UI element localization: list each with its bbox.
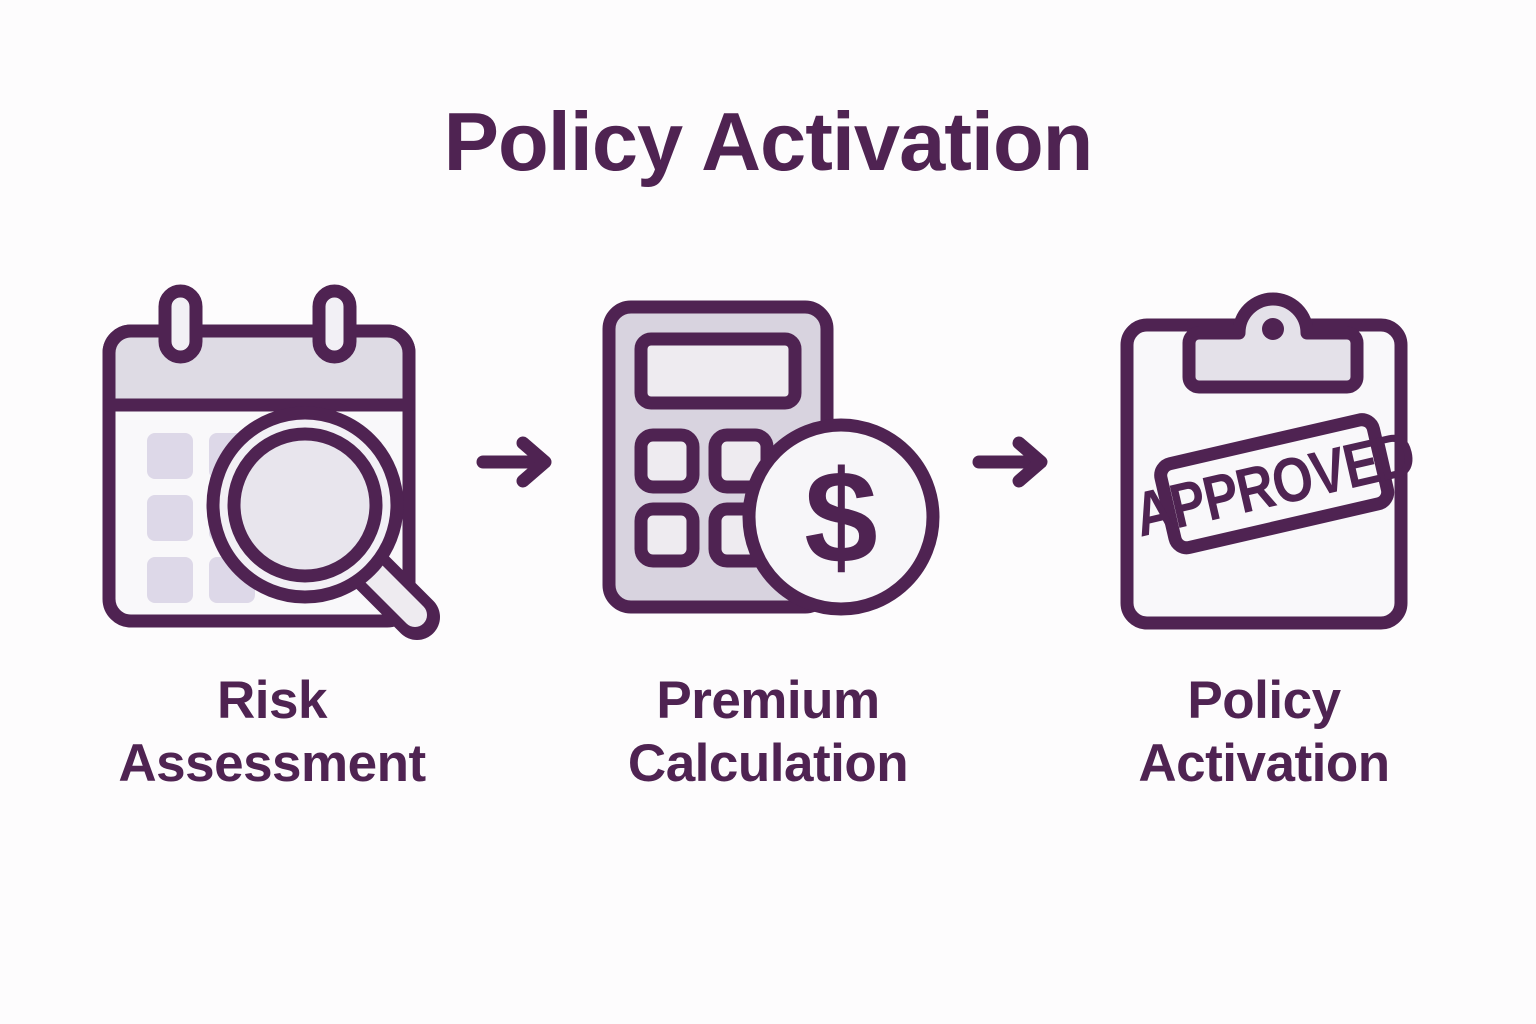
coin-dollar-symbol: $	[804, 444, 877, 591]
arrow-right-icon	[962, 262, 1070, 662]
flow-step-label: Policy Activation	[1138, 670, 1389, 795]
page-title: Policy Activation	[0, 98, 1536, 185]
flow-step-policy-activation[interactable]: APPROVED Policy Activation	[1070, 262, 1458, 795]
flow-step-premium-calculation[interactable]: $ Premium Calculation	[574, 262, 962, 795]
process-flow: Risk Assessment	[0, 262, 1536, 882]
arrow-right-icon	[466, 262, 574, 662]
infographic-canvas: Policy Activation	[0, 0, 1536, 1024]
clipboard-approved-icon: APPROVED	[1070, 262, 1458, 662]
calculator-dollar-coin-icon: $	[574, 262, 962, 662]
flow-step-label: Risk Assessment	[118, 670, 425, 795]
flow-step-risk-assessment[interactable]: Risk Assessment	[78, 262, 466, 795]
flow-step-label: Premium Calculation	[628, 670, 908, 795]
calendar-magnifier-icon	[78, 262, 466, 662]
